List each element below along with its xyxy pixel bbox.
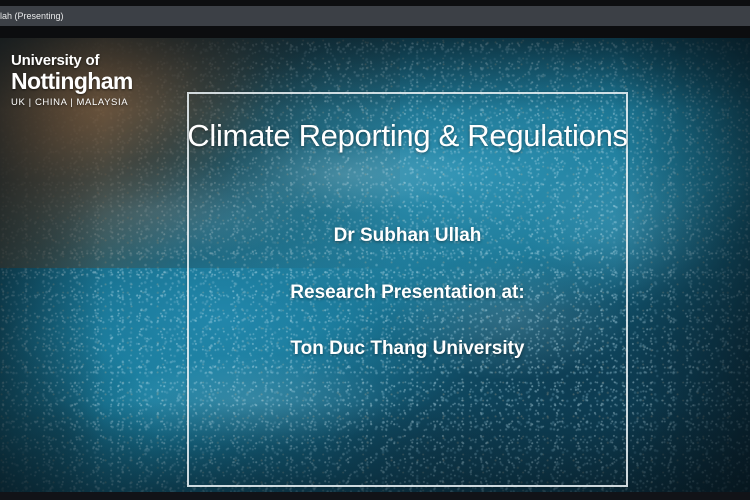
logo-line-campuses: UK | CHINA | MALAYSIA	[11, 96, 161, 110]
slide-venue-name: Ton Duc Thang University	[187, 336, 628, 362]
university-logo: University of Nottingham UK | CHINA | MA…	[11, 52, 161, 110]
participant-status-bar	[0, 6, 750, 26]
logo-line-university-of: University of	[11, 52, 161, 69]
screen-root: llah (Presenting) University of Nottingh…	[0, 0, 750, 500]
participant-status-label: llah (Presenting)	[0, 6, 64, 26]
slide-title: Climate Reporting & Regulations	[187, 116, 628, 156]
window-letterbox-top	[0, 26, 750, 38]
slide-presenter-name: Dr Subhan Ullah	[187, 223, 628, 249]
presentation-slide[interactable]: University of Nottingham UK | CHINA | MA…	[0, 38, 750, 492]
logo-line-nottingham: Nottingham	[11, 69, 161, 94]
slide-context-label: Research Presentation at:	[187, 280, 628, 306]
window-letterbox-bottom	[0, 492, 750, 500]
